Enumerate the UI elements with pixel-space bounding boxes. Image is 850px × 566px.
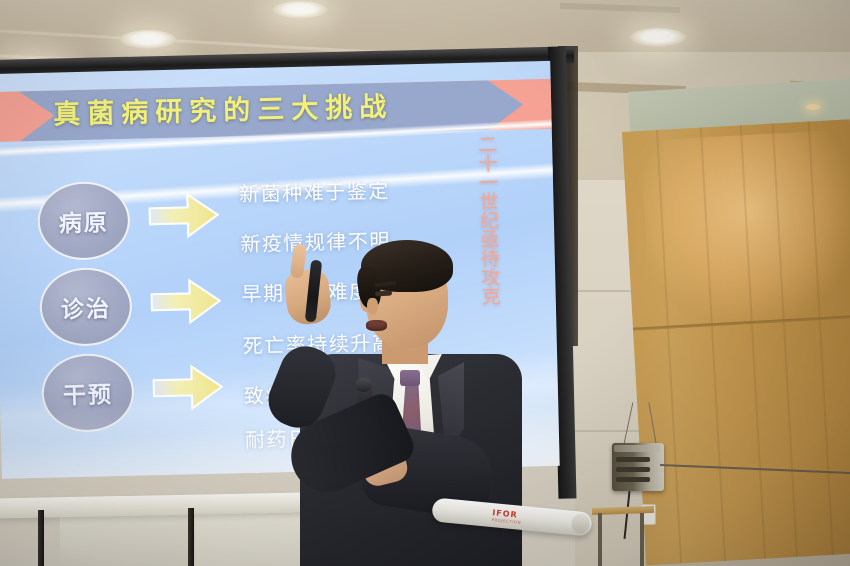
node-label: 诊治	[60, 289, 111, 324]
shelf-leg	[640, 513, 644, 566]
wall-spot-icon	[806, 104, 820, 110]
lower-wall-panel	[60, 512, 191, 566]
wood-wall-panel	[622, 119, 850, 565]
mouth	[366, 320, 387, 331]
panel-seam	[575, 430, 645, 432]
slide-bullet-1: 新菌种难于鉴定	[239, 175, 390, 208]
node-label: 病原	[58, 203, 109, 238]
downlight-icon	[120, 30, 176, 49]
table-leg	[38, 510, 44, 566]
shelf-leg	[598, 513, 602, 566]
arrow-right-icon-1	[147, 191, 220, 241]
roller-end-cap	[571, 513, 591, 535]
arrow-right-icon-2	[149, 277, 222, 327]
photo-scene: 真菌病研究的三大挑战 病原 诊治 干预	[0, 0, 850, 566]
slide-node-2: 诊治	[39, 267, 133, 347]
wall-heater	[612, 443, 664, 491]
nose	[367, 298, 378, 315]
slide-node-1: 病原	[37, 181, 131, 261]
node-label: 干预	[62, 375, 113, 410]
downlight-icon	[630, 28, 686, 47]
necktie-knot	[400, 370, 420, 386]
microphone-head	[355, 378, 372, 392]
downlight-icon	[272, 1, 328, 19]
table-leg	[188, 508, 194, 566]
